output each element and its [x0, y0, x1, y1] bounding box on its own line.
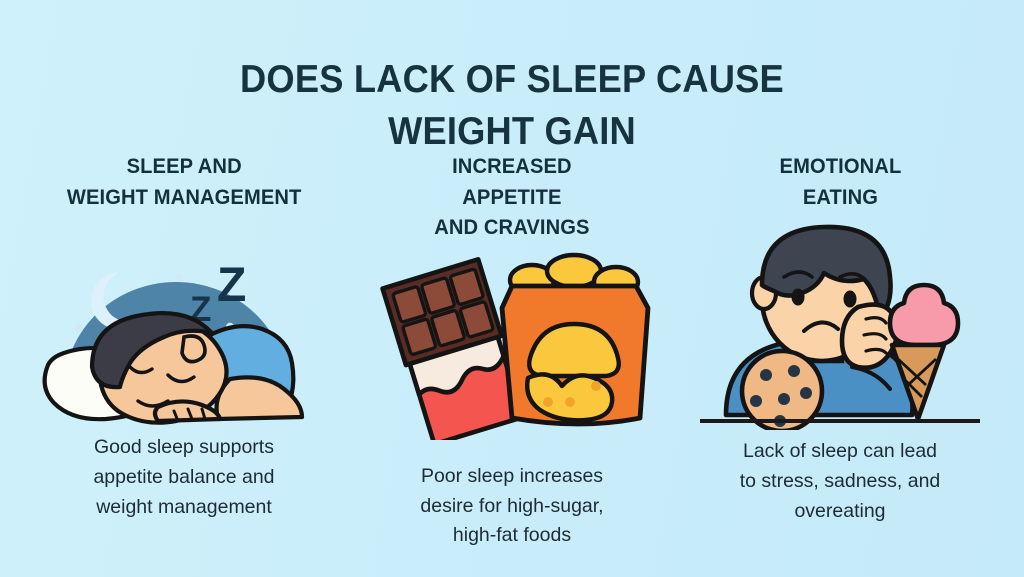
column-increased-appetite-and-cravings: INCREASED APPETITE AND CRAVINGS [356, 152, 668, 572]
column-3-heading-line-2: EATING [779, 183, 901, 214]
column-1-heading-line-2: WEIGHT MANAGEMENT [67, 183, 302, 214]
column-1-caption-line-2: appetite balance and [47, 463, 322, 493]
page-title-line-2: WEIGHT GAIN [36, 106, 988, 157]
column-2-heading-line-2: APPETITE [434, 183, 589, 214]
column-3-caption: Lack of sleep can lead to stress, sadnes… [703, 437, 978, 526]
ear-icon [182, 336, 205, 362]
column-1-caption: Good sleep supports appetite balance and… [47, 433, 322, 522]
column-3-caption-line-1: Lack of sleep can lead [703, 437, 978, 467]
cookie-chip-icon [760, 369, 772, 381]
sleeping-person-illustration: z Z Z [34, 215, 334, 425]
infographic-canvas: DOES LACK OF SLEEP CAUSE WEIGHT GAIN SLE… [0, 0, 1024, 577]
column-2-caption: Poor sleep increases desire for high-sug… [375, 462, 650, 551]
zzz-large-icon: Z [217, 259, 246, 312]
column-3-caption-line-3: overeating [703, 497, 978, 527]
column-emotional-eating: EMOTIONAL EATING [684, 152, 996, 572]
column-2-caption-line-2: desire for high-sugar, [375, 492, 650, 522]
column-3-heading-line-1: EMOTIONAL [779, 152, 901, 183]
page-title: DOES LACK OF SLEEP CAUSE WEIGHT GAIN [36, 54, 988, 157]
ice-cream-scoop-icon [890, 285, 958, 345]
star-icon [175, 274, 182, 281]
hand-icon [842, 304, 897, 367]
column-2-caption-line-1: Poor sleep increases [375, 462, 650, 492]
column-3-heading: EMOTIONAL EATING [779, 152, 901, 213]
chip-bag-icon [502, 255, 648, 424]
column-1-heading-line-1: SLEEP AND [67, 152, 302, 183]
column-sleep-and-weight-management: SLEEP AND WEIGHT MANAGEMENT z Z Z [28, 152, 340, 572]
column-2-heading-line-3: AND CRAVINGS [434, 213, 589, 244]
chip-dot-icon [543, 397, 553, 407]
eye-icon [844, 290, 857, 307]
chip-dot-icon [565, 397, 575, 407]
cookie-chip-icon [800, 387, 812, 399]
columns-container: SLEEP AND WEIGHT MANAGEMENT z Z Z [0, 152, 1024, 572]
cookie-chip-icon [750, 395, 762, 407]
junk-food-illustration [362, 242, 662, 448]
column-1-heading: SLEEP AND WEIGHT MANAGEMENT [67, 152, 302, 213]
eye-icon [792, 288, 805, 305]
sad-person-with-snacks-illustration [690, 217, 990, 427]
cookie-chip-icon [778, 393, 790, 405]
chip-dot-icon [591, 381, 601, 391]
column-1-caption-line-1: Good sleep supports [47, 433, 322, 463]
column-1-caption-line-3: weight management [47, 493, 322, 523]
column-3-caption-line-2: to stress, sadness, and [703, 467, 978, 497]
column-2-heading: INCREASED APPETITE AND CRAVINGS [434, 152, 589, 244]
column-2-caption-line-3: high-fat foods [375, 521, 650, 551]
cookie-chip-icon [788, 365, 800, 377]
star-icon [75, 325, 82, 332]
column-2-heading-line-1: INCREASED [434, 152, 589, 183]
page-title-line-1: DOES LACK OF SLEEP CAUSE [240, 58, 784, 101]
